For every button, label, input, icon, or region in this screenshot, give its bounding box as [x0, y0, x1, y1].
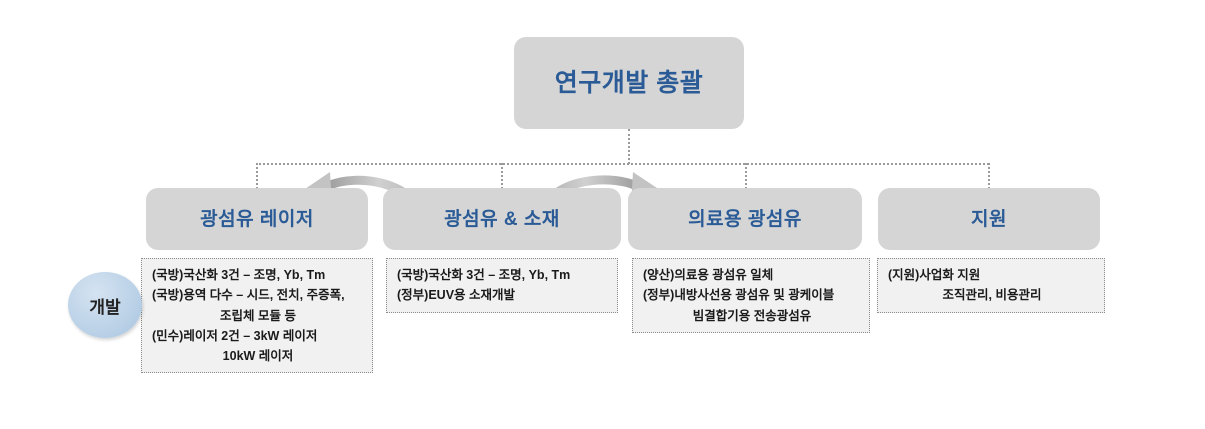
detail-panel-support: (지원)사업화 지원조직관리, 비용관리 [877, 258, 1105, 313]
branch-node-label: 광섬유 레이저 [146, 204, 368, 231]
detail-panel-fiber-laser: (국방)국산화 3건 – 조명, Yb, Tm(국방)용역 다수 – 시드, 전… [141, 258, 373, 373]
branch-node-medical-fiber[interactable]: 의료용 광섬유 [628, 188, 862, 250]
detail-line: (지원)사업화 지원 [888, 265, 1096, 285]
detail-line: 조직관리, 비용관리 [888, 285, 1096, 305]
detail-line: (정부)EUV용 소재개발 [397, 285, 609, 305]
detail-line: 조립체 모듈 등 [152, 306, 364, 326]
branch-node-fiber-laser[interactable]: 광섬유 레이저 [146, 188, 368, 250]
connector-root-vertical [628, 129, 630, 164]
diagram-canvas: 연구개발 총괄 광섬유 레이저 광섬유 & 소재 의료용 광섬유 지원 (국방)… [0, 0, 1205, 429]
detail-line: (양산)의료용 광섬유 일체 [643, 265, 861, 285]
root-node[interactable]: 연구개발 총괄 [514, 37, 744, 129]
detail-line: (국방)용역 다수 – 시드, 전치, 주증폭, [152, 285, 364, 305]
development-badge: 개발 [68, 272, 142, 338]
detail-line: 빔결합기용 전송광섬유 [643, 306, 861, 326]
connector-branch-3-vertical [988, 163, 990, 189]
detail-panel-fiber-and-material: (국방)국산화 3건 – 조명, Yb, Tm(정부)EUV용 소재개발 [386, 258, 618, 313]
development-badge-label: 개발 [89, 293, 120, 318]
detail-panel-medical-fiber: (양산)의료용 광섬유 일체(정부)내방사선용 광섬유 및 광케이블빔결합기용 … [632, 258, 870, 333]
branch-node-support[interactable]: 지원 [878, 188, 1100, 250]
branch-node-label: 광섬유 & 소재 [383, 204, 621, 231]
detail-line: (국방)국산화 3건 – 조명, Yb, Tm [397, 265, 609, 285]
branch-node-label: 의료용 광섬유 [628, 204, 862, 231]
detail-line: 10kW 레이저 [152, 346, 364, 366]
root-node-label: 연구개발 총괄 [514, 63, 744, 99]
connector-branch-1-vertical [501, 163, 503, 189]
branch-node-label: 지원 [878, 204, 1100, 231]
branch-node-fiber-and-material[interactable]: 광섬유 & 소재 [383, 188, 621, 250]
detail-line: (민수)레이저 2건 – 3kW 레이저 [152, 326, 364, 346]
detail-line: (정부)내방사선용 광섬유 및 광케이블 [643, 285, 861, 305]
connector-branch-2-vertical [745, 163, 747, 189]
connector-branch-0-vertical [256, 163, 258, 189]
detail-line: (국방)국산화 3건 – 조명, Yb, Tm [152, 265, 364, 285]
connector-horizontal-bus [256, 163, 989, 165]
